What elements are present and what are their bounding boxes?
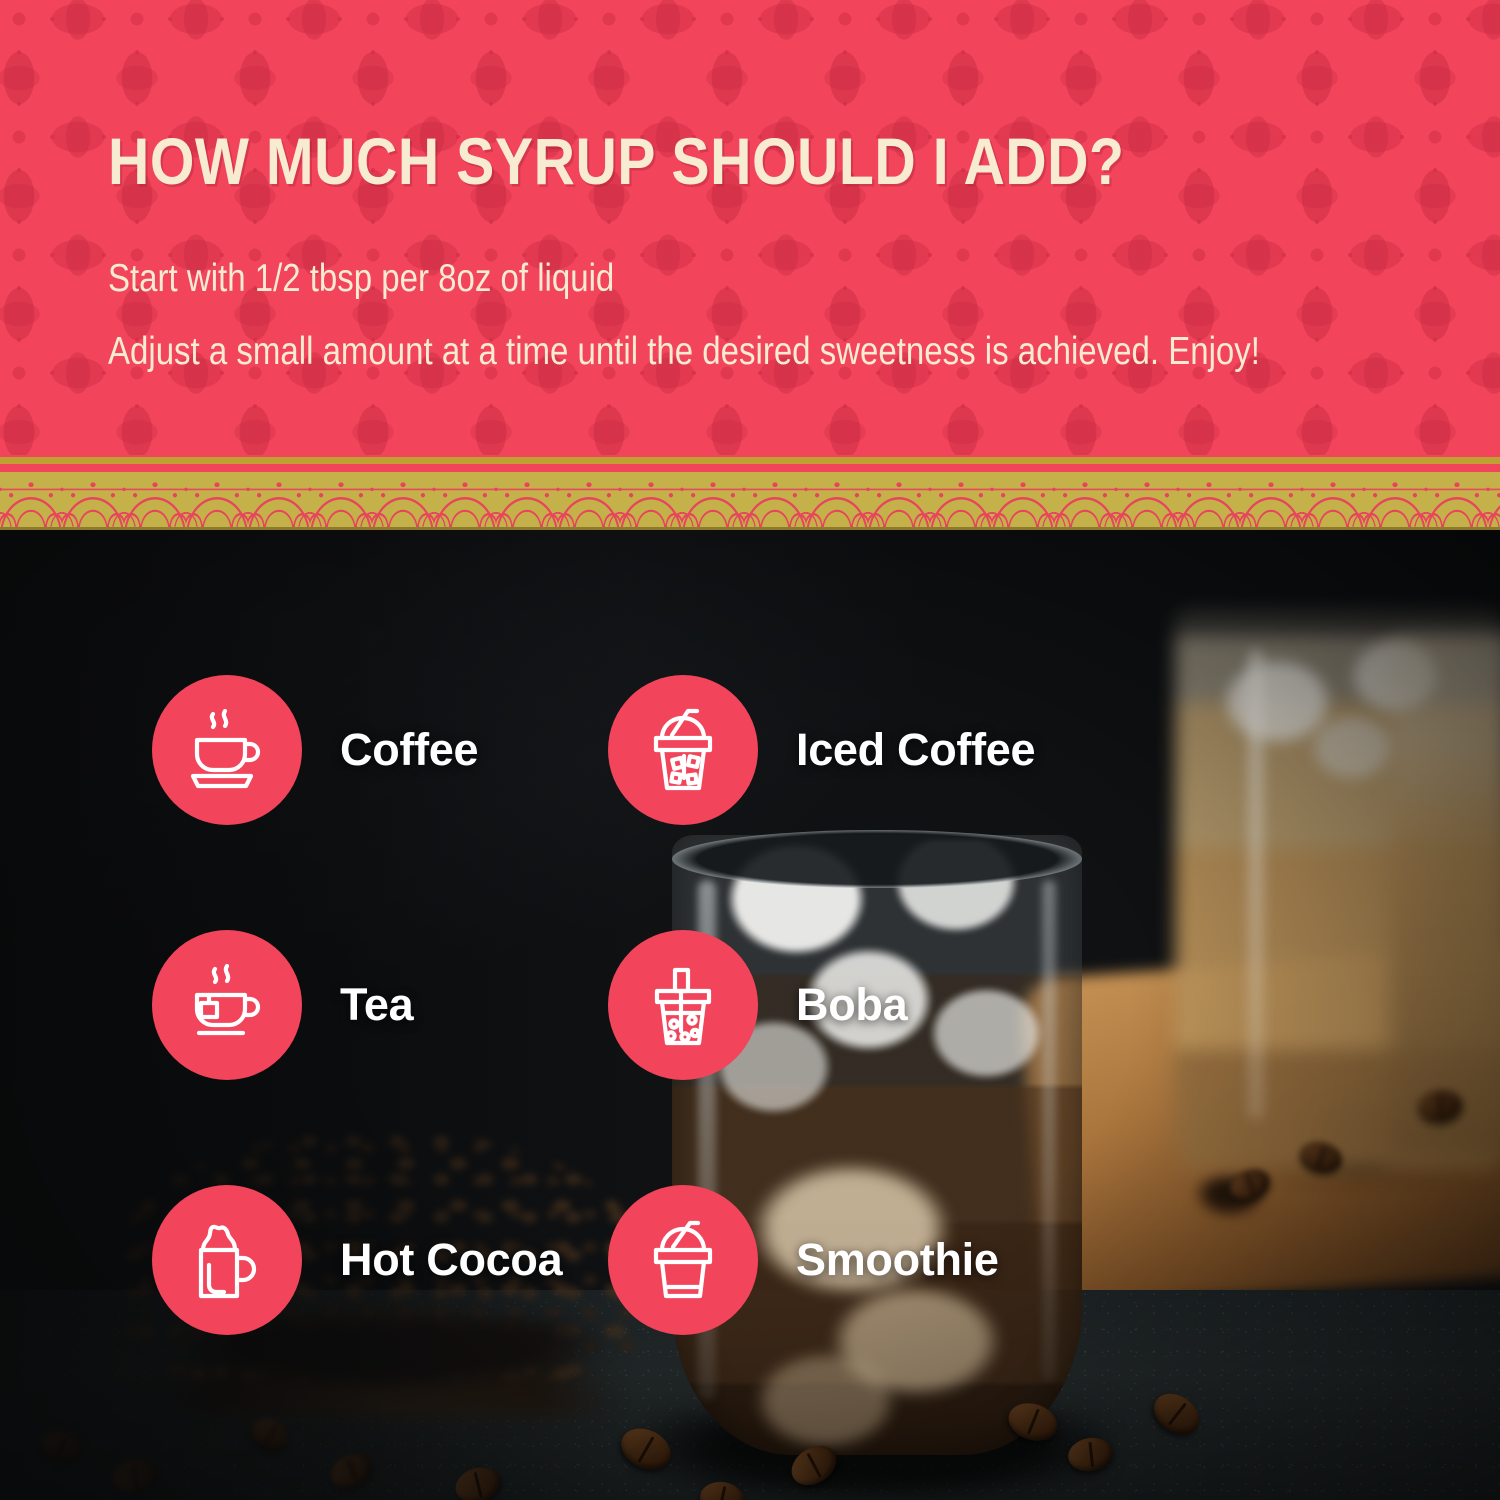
beverage-item-iced-coffee[interactable]: Iced Coffee — [608, 675, 1035, 825]
header-panel: HOW MUCH SYRUP SHOULD I ADD? Start with … — [0, 0, 1500, 455]
iced-coffee-badge — [608, 675, 758, 825]
beverage-item-smoothie[interactable]: Smoothie — [608, 1185, 999, 1335]
smoothie-badge — [608, 1185, 758, 1335]
leaf-motif-layer-2 — [0, 472, 1500, 530]
ornamental-border — [0, 455, 1500, 530]
beverage-label: Smoothie — [796, 1234, 999, 1286]
coffee-badge — [152, 675, 302, 825]
gold-rule-line — [0, 457, 1500, 464]
tea-badge — [152, 930, 302, 1080]
beverage-label: Iced Coffee — [796, 724, 1035, 776]
gold-motif-band — [0, 472, 1500, 530]
hot-cocoa-mug-icon — [179, 1212, 275, 1308]
boba-badge — [608, 930, 758, 1080]
pink-gap-line — [0, 464, 1500, 472]
boba-cup-icon — [635, 957, 731, 1053]
header-subtitle-line-2: Adjust a small amount at a time until th… — [108, 331, 1500, 370]
beverage-label: Coffee — [340, 724, 478, 776]
iced-coffee-cup-icon — [635, 702, 731, 798]
beverage-item-hot-cocoa[interactable]: Hot Cocoa — [152, 1185, 562, 1335]
beverage-label: Tea — [340, 979, 413, 1031]
coffee-cup-icon — [179, 702, 275, 798]
beverage-item-coffee[interactable]: Coffee — [152, 675, 478, 825]
hot-cocoa-badge — [152, 1185, 302, 1335]
tea-cup-icon — [179, 957, 275, 1053]
header-content: HOW MUCH SYRUP SHOULD I ADD? Start with … — [0, 0, 1500, 367]
header-subtitle-line-1: Start with 1/2 tbsp per 8oz of liquid — [108, 258, 1500, 297]
beverage-label: Boba — [796, 979, 907, 1031]
beverage-item-tea[interactable]: Tea — [152, 930, 413, 1080]
infographic-page: HOW MUCH SYRUP SHOULD I ADD? Start with … — [0, 0, 1500, 1500]
beverage-item-boba[interactable]: Boba — [608, 930, 907, 1080]
smoothie-cup-icon — [635, 1212, 731, 1308]
beverage-label: Hot Cocoa — [340, 1234, 562, 1286]
page-title: HOW MUCH SYRUP SHOULD I ADD? — [108, 129, 1500, 195]
beverage-list: Coffee Iced Coffee — [0, 530, 1500, 1500]
